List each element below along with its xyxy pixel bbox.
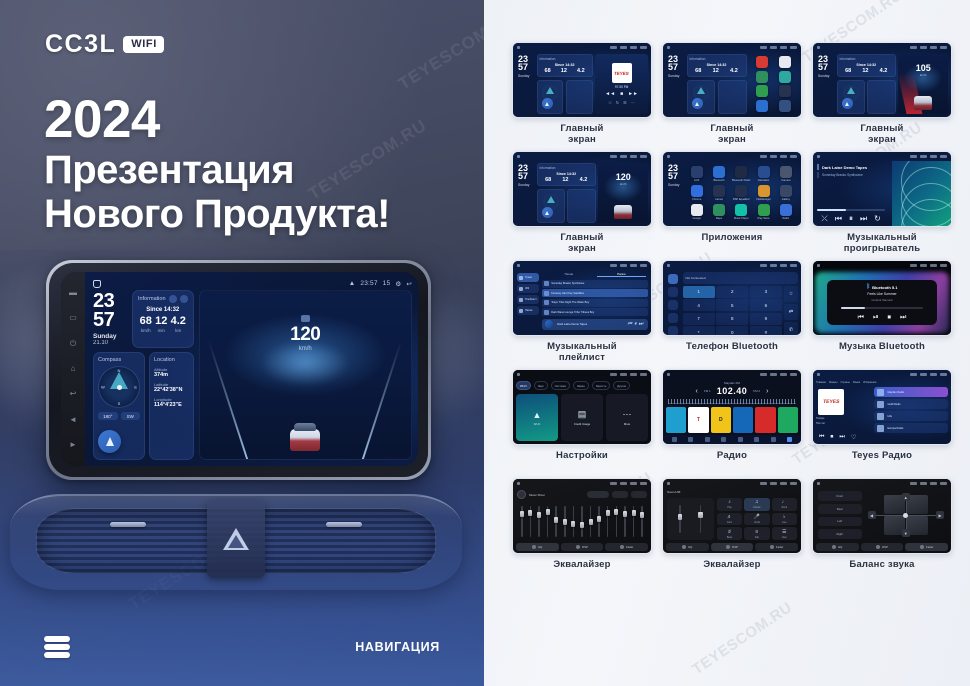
preset-item[interactable] [733,407,753,433]
station-name: Maydan FM [667,381,797,385]
tab-eq[interactable]: EQ [516,543,559,551]
now-playing-panel[interactable]: Dark Laine Demo Tapes Someday Brasko Syn… [813,161,889,226]
music-widget[interactable]: TEYES 97.50 FM ◄◄■►► ⤫↻☰⋯ [595,54,648,114]
transfer-icon[interactable]: ⇄ [784,304,798,320]
dial-keypad[interactable]: 1 2 3 4 5 6 7 8 9 * [683,286,783,336]
bluetooth-player-card[interactable]: ᛒBluetooth 5.1 Feels Like Summer Content… [827,280,936,326]
preset-button[interactable]: ♫Classic [744,498,769,511]
item-caption: Музыкальный плейлист [547,342,617,366]
preset-label: Flat [755,536,759,539]
app-item[interactable]: AUX [687,165,707,182]
wifi-badge: WIFI [123,36,164,53]
settings-icon[interactable] [668,326,678,336]
gallery-item[interactable]: 2357Sunday InformationSince 14:3268124.2 [662,42,802,148]
head-unit-hard-keys[interactable]: ▬ ▭ ⏻ ⌂ ↩ ◄ ► [61,272,85,466]
prev-icon[interactable]: ◄◄ [605,91,615,97]
preset-button[interactable]: ♪Pop [717,498,742,511]
stat-value: 68 [845,68,851,74]
recents-icon[interactable] [668,313,678,323]
hero-panel: TEYESCOM.RU TEYESCOM.RU TEYESCOM.RU CC3L… [0,0,484,686]
hazard-triangle-icon [223,528,249,550]
information-card[interactable]: Information Since 14:32 68km/h [132,290,194,348]
head-unit-screen[interactable]: ▲ 23:57 15 ⚙ ↩ 23 57 [85,272,418,466]
track-title: Faraway Hard Key Satellites [551,292,646,295]
thumbnail-equalizer-bands[interactable]: Music Mixer [512,478,652,554]
vent-slider-right [326,522,362,527]
prev-station-icon[interactable]: ‹ [696,388,698,395]
down-arrow-icon[interactable]: ▼ [902,529,910,537]
slider[interactable] [700,505,702,534]
stop-icon[interactable]: ■ [620,91,623,97]
gallery-item[interactable]: 2357Sunday InformationSince 14:3268124.2… [812,42,952,148]
tab-wifi[interactable]: WI-FI [516,381,531,390]
tab-fader[interactable]: Fader [905,543,948,551]
app-item[interactable]: Calculator [753,165,773,182]
dial-key[interactable]: 9 [750,313,782,325]
eq-band[interactable] [561,503,569,540]
back-icon[interactable]: ↩ [68,389,78,399]
right-arrow-icon[interactable]: ▶ [936,511,944,519]
progress-bar[interactable] [841,307,924,309]
location-card[interactable]: Location Altitude 374m Latitude 22°42'38… [149,352,194,460]
pause-icon[interactable]: ⏸ [849,215,853,223]
station-row[interactable]: Hits [874,411,948,421]
preset-left[interactable]: Left [818,517,862,527]
app-label: Bluetooth Music [732,179,750,182]
gallery-item[interactable]: Dark Laine Demo Tapes Someday Brasko Syn… [812,151,952,257]
eq-band[interactable] [604,503,612,540]
compass-south: S [118,401,121,406]
wifi-icon: ▲ [533,410,542,420]
tab-favorites[interactable]: Избранное [863,381,876,384]
gallery-item[interactable]: Not Connected 1 2 3 4 5 6 [662,260,802,366]
thumbnail-music-player[interactable]: Dark Laine Demo Tapes Someday Brasko Syn… [812,151,952,227]
gallery-item[interactable]: WI-FI Звук Система Экран Яркость Другие … [512,369,652,475]
volume-up-icon[interactable]: ► [68,440,78,450]
search-icon[interactable] [668,300,678,310]
track-title: Dark Laine Demo Tapes [557,322,587,326]
contacts-icon[interactable] [668,287,678,297]
app-item[interactable]: Bluetooth [709,165,729,182]
dial-key[interactable]: 1 [683,286,715,298]
thumbnail-teyes-radio[interactable]: Главная Жанры Страны Языки Избранное TEY… [812,369,952,445]
shuffle-icon: ⤫ [609,100,612,105]
next-icon[interactable]: ⏭ [860,215,867,223]
clock-minutes: 57 [668,172,682,180]
compass-dial: N S E W [98,366,140,408]
keypad-icon[interactable] [668,274,678,284]
preset-dial-icon[interactable] [517,490,526,499]
gallery-item[interactable]: 2357Sunday AUX Bluetooth Bluetooth Music… [662,151,802,257]
app-label: AUX [694,179,699,182]
home-icon[interactable] [672,437,677,442]
app-label: Google [692,217,700,220]
dial-key[interactable]: 0 [716,326,748,336]
longitude-value: 114°4'23"E [154,402,189,408]
tab-label: DSP [582,545,588,549]
next-station-icon[interactable]: › [766,388,768,395]
eq-band[interactable] [570,503,578,540]
eq-band[interactable] [544,503,552,540]
item-caption: Эквалайзер [703,560,760,584]
progress-bar[interactable] [817,209,885,211]
gallery-item[interactable]: Front Rear Left Right ▲ ▼ [812,478,952,584]
preset-label: Bass [727,536,732,539]
mute-icon[interactable]: ▬ [68,288,78,298]
station-row[interactable]: Europa Radio [874,423,948,433]
preset-item[interactable]: T [688,407,708,433]
speed-unit: km/h [200,346,411,352]
next-icon[interactable]: ►► [628,91,638,97]
gallery-item[interactable]: 2357Sunday InformationSince 14:3268124.2… [512,151,652,257]
tab-countries[interactable]: Страны [840,381,849,384]
latitude-value: 22°42'38"N [154,387,189,393]
dial-key[interactable]: * [683,326,715,336]
home-icon[interactable] [93,280,101,288]
app-label: Camera [781,179,790,182]
item-caption: Радио [717,451,747,475]
preset-list[interactable]: T D [663,405,801,435]
list-icon: ☰ [623,100,627,105]
preset-right[interactable]: Right [818,529,862,539]
since-label: Since 14:32 [138,307,188,313]
stat-value: 4.2 [730,68,738,74]
settings-icon[interactable] [771,437,776,442]
app-item[interactable]: Google [687,204,707,221]
eq-icon[interactable] [721,437,726,442]
station-name: Maydan Radio [887,391,945,394]
gallery-item[interactable]: Maydan FM ‹ FM 1 102.40 FM 2 › [662,369,802,475]
shuffle-icon[interactable]: ⤫ [821,215,827,223]
next-icon[interactable]: ⏭ [839,434,844,441]
left-arrow-icon[interactable]: ◀ [868,511,876,519]
now-playing-bar[interactable]: Dark Laine Demo Tapes⏮⏸⏭ [542,319,648,330]
app-label: Carnet [715,198,723,201]
repeat-icon[interactable]: ↻ [874,215,881,223]
preset-button[interactable]: ♯Bass [717,527,742,540]
driving-view-card[interactable]: 120km/h [598,163,648,223]
stat-value: 4.2 [171,316,186,327]
thumbnail-equalizer-presets[interactable]: Sound AB ♪Pop ♫Classic ♩Rock ♬Jazz [662,478,802,554]
app-item[interactable]: Maps [709,204,729,221]
playlist-row[interactable]: Dark Wave Lounge Tribe Tribeca Boy [542,308,648,316]
teyes-tabs[interactable]: Главная Жанры Страны Языки Избранное [813,379,951,386]
eq-band[interactable] [535,503,543,540]
frequency-scale[interactable] [668,399,796,404]
stat-value: 4.2 [580,177,588,183]
eq-band[interactable] [518,503,526,540]
bluetooth-version: Bluetooth 5.1 [872,285,897,290]
station-row[interactable]: Gold Radio [874,399,948,409]
eq-band[interactable] [578,503,586,540]
stop-icon[interactable]: ⏹ [888,314,892,321]
tab-dsp[interactable]: DSP [711,543,754,551]
preset-rear[interactable]: Rear [818,504,862,514]
equalizer-footer[interactable]: EQ DSP Fader [513,542,651,553]
app-label: Play Store [758,217,770,220]
eq-band[interactable] [621,503,629,540]
app-item[interactable]: Music Player [731,204,751,221]
preset-buttons[interactable]: ♪Pop ♫Classic ♩Rock ♬Jazz 🎤Vocal ♭Live ♯… [717,498,797,540]
more-icon: ⋯ [623,409,632,420]
app-label: Calculator [758,179,770,182]
up-arrow-icon[interactable]: ▲ [902,493,910,501]
tab-dsp[interactable]: DSP [861,543,904,551]
gallery-item[interactable]: Треки ID3 Плейлист Папки ПесниПапки Some… [512,260,652,366]
gallery-item[interactable]: Главная Жанры Страны Языки Избранное TEY… [812,369,952,475]
dial-key[interactable]: 2 [716,286,748,298]
clock-minutes: 57 [518,172,534,180]
preset-item[interactable]: D [711,407,731,433]
thumbnail-home-speed[interactable]: 2357Sunday InformationSince 14:3268124.2… [512,151,652,227]
gallery-item[interactable]: Music Mixer [512,478,652,584]
tab-dsp[interactable]: DSP [561,543,604,551]
thumbnail-bluetooth-music[interactable]: ᛒBluetooth 5.1 Feels Like Summer Content… [812,260,952,336]
prev-icon[interactable]: ⏮ [819,434,824,441]
mode-icon[interactable]: ▭ [68,313,78,323]
prev-icon[interactable]: ⏮ [858,314,864,321]
stat-unit: km [171,328,186,333]
navigation-arrow-icon[interactable] [98,430,121,453]
preset-button[interactable]: ☰User [772,527,797,540]
playlist-row[interactable]: Faraway Hard Key Satellites [542,289,648,297]
app-item[interactable]: Bluetooth Music [731,165,751,182]
title-line-2: Нового Продукта! [44,192,464,237]
volume-down-icon[interactable]: ◄ [68,415,78,425]
thumbnail-home-drive[interactable]: 2357Sunday InformationSince 14:3268124.2… [812,42,952,118]
setting-card-wifi[interactable]: ▲Wi-Fi [516,394,558,441]
preset-button[interactable]: 🎤Vocal [744,513,769,526]
prev-icon[interactable]: ⏮ [835,215,842,223]
quick-apps-panel[interactable] [749,54,798,114]
eq-band[interactable] [613,503,621,540]
thumbnail-radio[interactable]: Maydan FM ‹ FM 1 102.40 FM 2 › [662,369,802,445]
information-title: Information [540,57,590,61]
navigation-arrow-icon[interactable] [542,207,553,218]
preset-item[interactable] [755,407,775,433]
app-item[interactable]: Chrome [687,184,707,201]
station-name: Europa Radio [887,427,945,430]
tab-songs[interactable]: Песни [544,272,593,277]
save-button[interactable] [612,491,628,498]
station-list[interactable]: Maydan Radio Gold Radio Hits Europa Radi… [874,387,948,441]
search-icon[interactable] [688,437,693,442]
star-icon[interactable]: ☆ [784,286,798,302]
navigation-arrow-icon[interactable] [842,98,853,109]
next-icon[interactable]: ⏭ [900,314,906,321]
eq-band[interactable] [552,503,560,540]
tab-fader[interactable]: Fader [755,543,798,551]
am-icon[interactable] [754,437,759,442]
apps-icon[interactable] [787,437,792,442]
dial-key[interactable]: 8 [716,313,748,325]
sidebar-label: Папки [525,309,532,312]
preset-item[interactable] [666,407,686,433]
sidebar-item[interactable]: Треки [517,273,539,282]
driving-view-card[interactable]: 105km/h [898,54,948,114]
tab-sound[interactable]: Звук [534,381,548,390]
thumbnail-settings[interactable]: WI-FI Звук Система Экран Яркость Другие … [512,369,652,445]
navigation-arrow-icon[interactable] [692,98,703,109]
station-name: Hits [887,415,945,418]
heart-icon[interactable]: ♡ [851,434,856,441]
app-item[interactable]: Camera [776,165,796,182]
app-item[interactable]: DSP Equalizer [731,184,751,201]
clock-day: Sunday [668,74,684,78]
app-label: DSP Equalizer [733,198,750,201]
card-label: Wi-Fi [534,422,541,426]
gallery-item[interactable]: ᛒBluetooth 5.1 Feels Like Summer Content… [812,260,952,366]
tab-screen[interactable]: Экран [573,381,589,390]
playlist-row[interactable]: Tokyo Tribe Night The Water Boy [542,299,648,307]
compass-card[interactable]: Compass N S E W [93,352,145,460]
eq-band[interactable] [527,503,535,540]
tab-genres[interactable]: Жанры [829,381,838,384]
compass-heading: 180° [98,412,118,420]
app-item[interactable]: Gallery [776,184,796,201]
tab-other[interactable]: Другие [613,381,630,390]
app-item[interactable]: FileManager [753,184,773,201]
app-item[interactable]: Radio [776,204,796,221]
preset-button[interactable]: ♭Live [772,513,797,526]
eq-band[interactable] [587,503,595,540]
playlist-sidebar[interactable]: Треки ID3 Плейлист Папки [516,272,540,332]
play-pause-icon[interactable]: ⏯ [873,314,879,321]
sidebar-item[interactable]: Плейлист [517,295,539,304]
dial-key[interactable]: # [750,326,782,336]
radio-toolbar[interactable] [663,435,801,444]
station-row[interactable]: Maydan Radio [874,387,948,397]
gallery-item[interactable]: 2357Sunday InformationSince 14:3268124.2… [512,42,652,148]
preset-label: Rock [782,506,787,509]
status-time: 23:57 [360,280,377,287]
equalizer-footer[interactable]: EQ DSP Fader [813,542,951,553]
dial-key[interactable]: 3 [750,286,782,298]
thumbnail-apps[interactable]: 2357Sunday AUX Bluetooth Bluetooth Music… [662,151,802,227]
sidebar-item[interactable]: Папки [517,306,539,315]
preset-item[interactable] [778,407,798,433]
tab-eq[interactable]: EQ [816,543,859,551]
home-icon[interactable]: ⌂ [68,364,78,374]
slider[interactable] [679,505,681,534]
tab-label: EQ [688,545,692,549]
tab-fader[interactable]: Fader [605,543,648,551]
list-icon[interactable] [705,437,710,442]
setting-card-more[interactable]: ⋯More [606,394,648,441]
tab-system[interactable]: Система [551,381,570,390]
balance-presets[interactable]: Front Rear Left Right [818,491,862,539]
playlist-row[interactable]: Someday Brasko Synthwave [542,280,648,288]
item-caption: Приложения [701,233,762,257]
tab-home[interactable]: Главная [816,381,826,384]
equalizer-footer[interactable]: EQ DSP Fader [663,542,801,553]
tab-eq[interactable]: EQ [666,543,709,551]
track-title: Dark Wave Lounge Tribe Tribeca Boy [551,311,646,314]
gallery-item[interactable]: Sound AB ♪Pop ♫Classic ♩Rock ♬Jazz [662,478,802,584]
balance-pad[interactable]: ▲ ▼ ◀ ▶ [866,491,946,539]
app-drawer[interactable]: AUX Bluetooth Bluetooth Music Calculator… [685,163,799,223]
footer-label: НАВИГАЦИЯ [355,640,440,654]
balance-knob[interactable] [903,513,908,518]
car-illustration [288,421,322,451]
tab-folders[interactable]: Папки [597,272,646,277]
phone-sidebar[interactable] [666,272,680,336]
tab-languages[interactable]: Языки [853,381,861,384]
driving-view-card[interactable]: 120 km/h [199,290,412,460]
car-illustration [914,96,932,110]
compass-west: W [101,385,105,390]
watermark: TEYESCOM.RU [689,599,795,678]
settings-tabs[interactable]: WI-FI Звук Система Экран Яркость Другие [513,379,651,392]
eq-band[interactable] [630,503,638,540]
album-art [545,320,553,328]
page-title: 2024 Презентация Нового Продукта! [44,92,464,237]
item-caption: Главный экран [710,124,753,148]
dial-key[interactable]: 5 [716,299,748,311]
dial-key[interactable]: 6 [750,299,782,311]
tab-label: DSP [882,545,888,549]
equalizer-bands[interactable] [513,501,651,542]
altitude-value: 374m [154,372,189,378]
thumbnail-home-music[interactable]: 2357Sunday InformationSince 14:3268124.2… [512,42,652,118]
dial-key[interactable]: 7 [683,313,715,325]
thumbnail-sound-balance[interactable]: Front Rear Left Right ▲ ▼ [812,478,952,554]
expand-icon[interactable] [180,295,188,303]
dsp-sliders[interactable] [667,498,714,540]
power-icon[interactable]: ⏻ [68,339,78,349]
station-frequency: 97.50 FM [615,85,628,89]
tab-label: EQ [538,545,542,549]
thumbnail-home-apps[interactable]: 2357Sunday InformationSince 14:3268124.2 [662,42,802,118]
preset-button[interactable]: ♬Jazz [717,513,742,526]
navigation-arrow-icon[interactable] [542,98,553,109]
back-icon[interactable]: ↩ [406,280,412,288]
clock-day: Sunday [818,74,834,78]
eq-band[interactable] [595,503,603,540]
app-item[interactable]: Carnet [709,184,729,201]
head-unit-device: ▬ ▭ ⏻ ⌂ ↩ ◄ ► ▲ 23:57 [46,260,431,480]
hazard-light-button [207,500,265,578]
call-icon[interactable]: ✆ [784,322,798,336]
refresh-icon[interactable] [169,295,177,303]
thumbnail-bluetooth-phone[interactable]: Not Connected 1 2 3 4 5 6 [662,260,802,336]
dial-key[interactable]: 4 [683,299,715,311]
preset-label: Jazz [727,521,732,524]
setting-card-credit[interactable]: ▤Credit Usage [561,394,603,441]
stop-icon[interactable]: ⏹ [830,434,833,441]
chart-icon: ▤ [578,409,587,420]
app-label: Bluetooth [713,179,724,182]
clock-minutes: 57 [518,63,534,71]
preset-front[interactable]: Front [818,491,862,501]
card-label: More [624,422,630,426]
fm-icon[interactable] [738,437,743,442]
compass-direction: SW [121,412,141,420]
preset-button[interactable]: ♩Rock [772,498,797,511]
app-item[interactable]: Play Store [753,204,773,221]
eq-band[interactable] [638,503,646,540]
tab-brightness[interactable]: Яркость [592,381,611,390]
sidebar-item[interactable]: ID3 [517,284,539,293]
album-logo: TEYES [822,399,839,405]
stat-value: 68 [545,68,551,74]
preset-selector[interactable] [587,491,609,498]
gear-icon[interactable]: ⚙ [395,280,401,288]
thumbnail-music-playlist[interactable]: Треки ID3 Плейлист Папки ПесниПапки Some… [512,260,652,336]
preset-button[interactable]: ≡Flat [744,527,769,540]
reset-button[interactable] [631,491,647,498]
app-label: Music Player [734,217,749,220]
